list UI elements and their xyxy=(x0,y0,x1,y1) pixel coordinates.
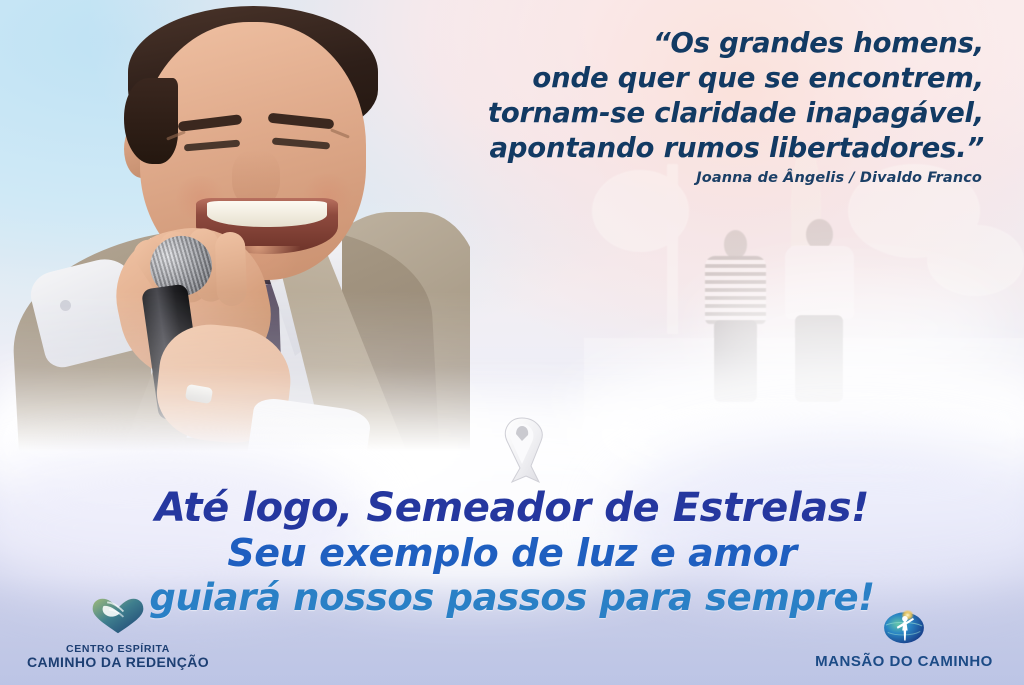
quote-line-4: apontando rumos libertadores.” xyxy=(424,131,984,166)
quote-attribution: Joanna de Ângelis / Divaldo Franco xyxy=(422,170,982,186)
logo-mansao-do-caminho: MANSÃO DO CAMINHO xyxy=(794,607,1014,671)
logo-centro-espirita: CENTRO ESPÍRITA CAMINHO DA REDENÇÃO xyxy=(8,597,228,671)
white-mourning-ribbon-icon xyxy=(486,408,558,486)
quote-line-2: onde quer que se encontrem, xyxy=(424,61,984,96)
globe-figure-icon xyxy=(794,607,1014,650)
quote-text: “Os grandes homens, onde quer que se enc… xyxy=(424,26,984,166)
headline-line-2: Seu exemplo de luz e amor xyxy=(0,533,1024,573)
hair-sideburn xyxy=(124,78,178,164)
quote-line-1: “Os grandes homens, xyxy=(424,26,984,61)
photo-foliage xyxy=(927,225,1024,296)
headline-line-1: Até logo, Semeador de Estrelas! xyxy=(0,487,1024,529)
quote-line-3: tornam-se claridade inapagável, xyxy=(424,96,984,131)
logo-centro-espirita-line-2: CAMINHO DA REDENÇÃO xyxy=(8,655,228,671)
memorial-tribute-poster: “Os grandes homens, onde quer que se enc… xyxy=(0,0,1024,685)
photo-pole xyxy=(667,164,678,334)
logo-mansao-do-caminho-label: MANSÃO DO CAMINHO xyxy=(794,654,1014,671)
divaldo-franco-portrait xyxy=(0,0,470,470)
hands-heart-icon xyxy=(8,597,228,640)
